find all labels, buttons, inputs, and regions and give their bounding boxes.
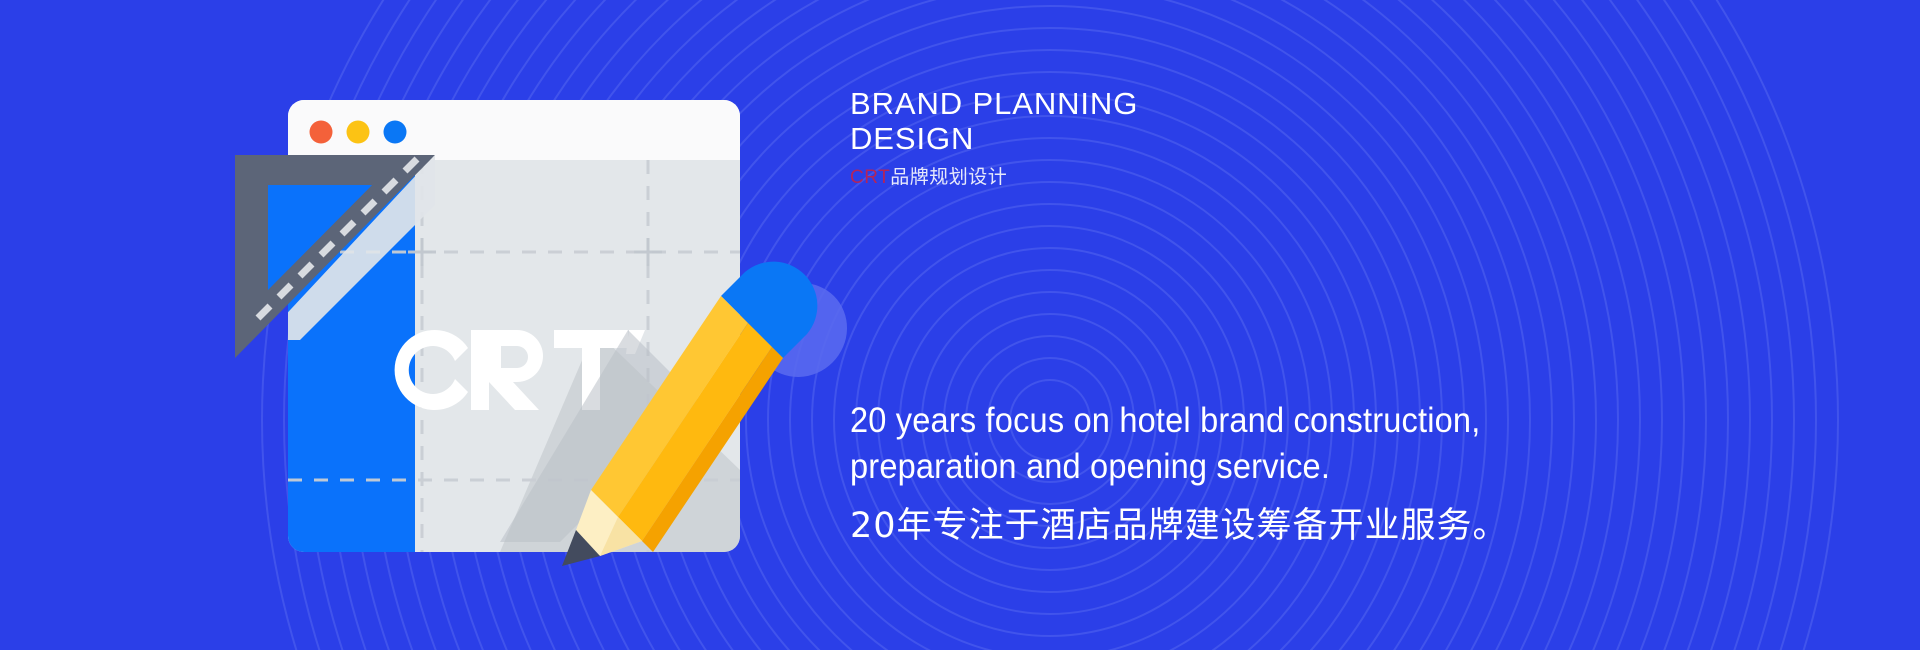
close-dot [310, 121, 333, 144]
tagline-chinese: 20年专注于酒店品牌建设筹备开业服务。 [850, 504, 1690, 548]
brand-mark-crt: CRT [850, 167, 890, 188]
headline-block: BRAND PLANNING DESIGN CRT品牌规划设计 [850, 86, 1138, 190]
subheadline-chinese: 品牌规划设计 [890, 167, 1007, 188]
design-illustration [0, 0, 860, 650]
window-traffic-lights [310, 121, 407, 144]
banner-text-column: BRAND PLANNING DESIGN CRT品牌规划设计 20 years… [850, 0, 1890, 650]
minimize-dot [347, 121, 370, 144]
tagline-block: 20 years focus on hotel brand constructi… [850, 398, 1690, 548]
tagline-english-line-1: 20 years focus on hotel brand constructi… [850, 398, 1631, 444]
subheadline: CRT品牌规划设计 [850, 166, 1138, 190]
tagline-english-line-2: preparation and opening service. [850, 444, 1631, 490]
page-title: BRAND PLANNING DESIGN [850, 86, 1138, 156]
brand-banner: BRAND PLANNING DESIGN CRT品牌规划设计 20 years… [0, 0, 1920, 650]
